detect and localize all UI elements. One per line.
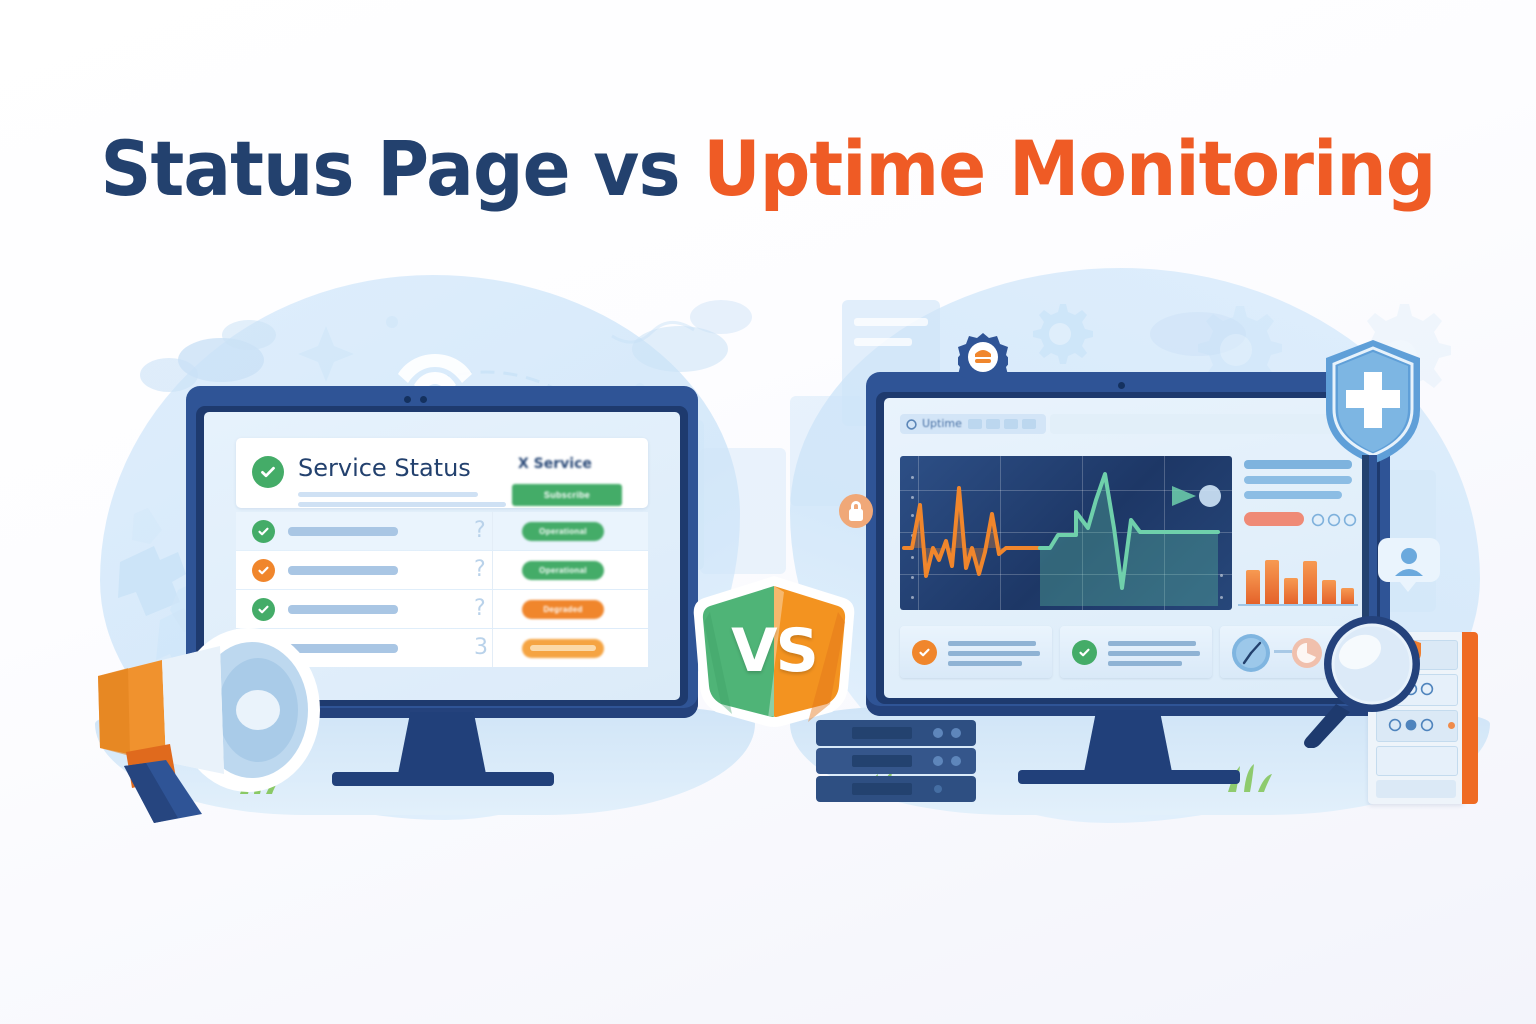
check-icon [912,640,937,665]
cloud-decor [140,358,198,392]
toolbar-segment[interactable] [986,419,1000,429]
status-badge: Degraded [522,600,604,619]
uptime-chart [900,456,1232,610]
check-icon [252,456,284,488]
sidebar-text-bar [1244,491,1342,499]
toolbar-label: Uptime [922,417,962,430]
record-icon [906,419,917,430]
magnifier-icon [1292,612,1424,748]
sidebar-text-bar [1244,476,1352,484]
shield-health-icon [1320,338,1426,466]
card-text-line [1108,641,1196,646]
camera-dot [420,396,427,403]
illustration-canvas: Status Page vs Uptime Monitoring Service… [0,0,1536,1024]
dashboard-toolbar-right [1050,414,1356,434]
vs-badge: VS [688,572,860,730]
background-document-line [854,338,912,346]
user-badge-icon [1376,536,1442,592]
mini-bar [1303,561,1317,604]
gauge-icon [1230,632,1272,674]
service-status-title: Service Status [298,454,471,482]
card-text-line [1108,661,1182,666]
row-value-glyph: ? [474,518,486,543]
row-label-placeholder [288,605,398,614]
row-value-glyph: ? [474,596,486,621]
status-header-panel: Service Status X Service Subscribe [236,438,648,508]
status-badge-inner-bar [530,645,596,651]
toolbar-segment[interactable] [968,419,982,429]
status-card[interactable] [1060,626,1212,678]
placeholder-bar [298,492,478,497]
card-text-line [948,651,1040,656]
status-card[interactable] [900,626,1052,678]
chart-series [900,456,1232,610]
card-text-line [948,641,1036,646]
background-document [700,448,786,574]
mini-bar [1322,580,1336,604]
megaphone-icon [62,618,330,823]
placeholder-bar [298,502,506,507]
check-icon [1072,640,1097,665]
camera-dot [404,396,411,403]
monitor-neck-right [1084,710,1172,772]
gear-badge-icon [958,332,1008,382]
sidebar-alert-pill [1244,512,1304,526]
check-icon [252,520,275,543]
lock-badge-icon [838,490,874,532]
vs-label: VS [688,572,860,730]
gear-decor-icon [1026,300,1094,368]
row-label-placeholder [288,566,398,575]
toolbar-segment[interactable] [1004,419,1018,429]
toolbar-segment[interactable] [1022,419,1036,429]
cloud-decor [222,320,276,350]
background-document-line [854,318,928,326]
monitor-base-left [332,772,554,786]
row-label-placeholder [288,527,398,536]
server-stack-icon [812,718,992,808]
check-icon [252,559,275,582]
card-text-line [948,661,1022,666]
monitor-neck-left [398,712,486,774]
status-badge: Operational [522,522,604,541]
mini-bar-axis [1238,604,1358,606]
row-value-glyph: ? [474,557,486,582]
card-text-line [1108,651,1200,656]
row-divider [492,512,493,550]
camera-dot [1118,382,1125,389]
mini-bar [1284,578,1298,604]
brand-label: X Service [518,456,592,472]
row-divider [492,551,493,589]
sidebar-circles-icon [1310,512,1358,528]
mini-bar [1246,570,1260,604]
mini-bar [1265,560,1279,604]
page-title-accent: Uptime Monitoring [703,124,1435,213]
mini-bar [1341,588,1354,604]
page-title: Status Page vs Uptime Monitoring [54,124,1482,213]
status-badge: Operational [522,561,604,580]
monitor-base-right [1018,770,1240,784]
row-divider [492,590,493,628]
subscribe-button[interactable]: Subscribe [512,484,622,506]
row-divider [492,629,493,667]
page-title-prefix: Status Page vs [101,124,704,213]
row-value-glyph: 3 [474,635,488,660]
